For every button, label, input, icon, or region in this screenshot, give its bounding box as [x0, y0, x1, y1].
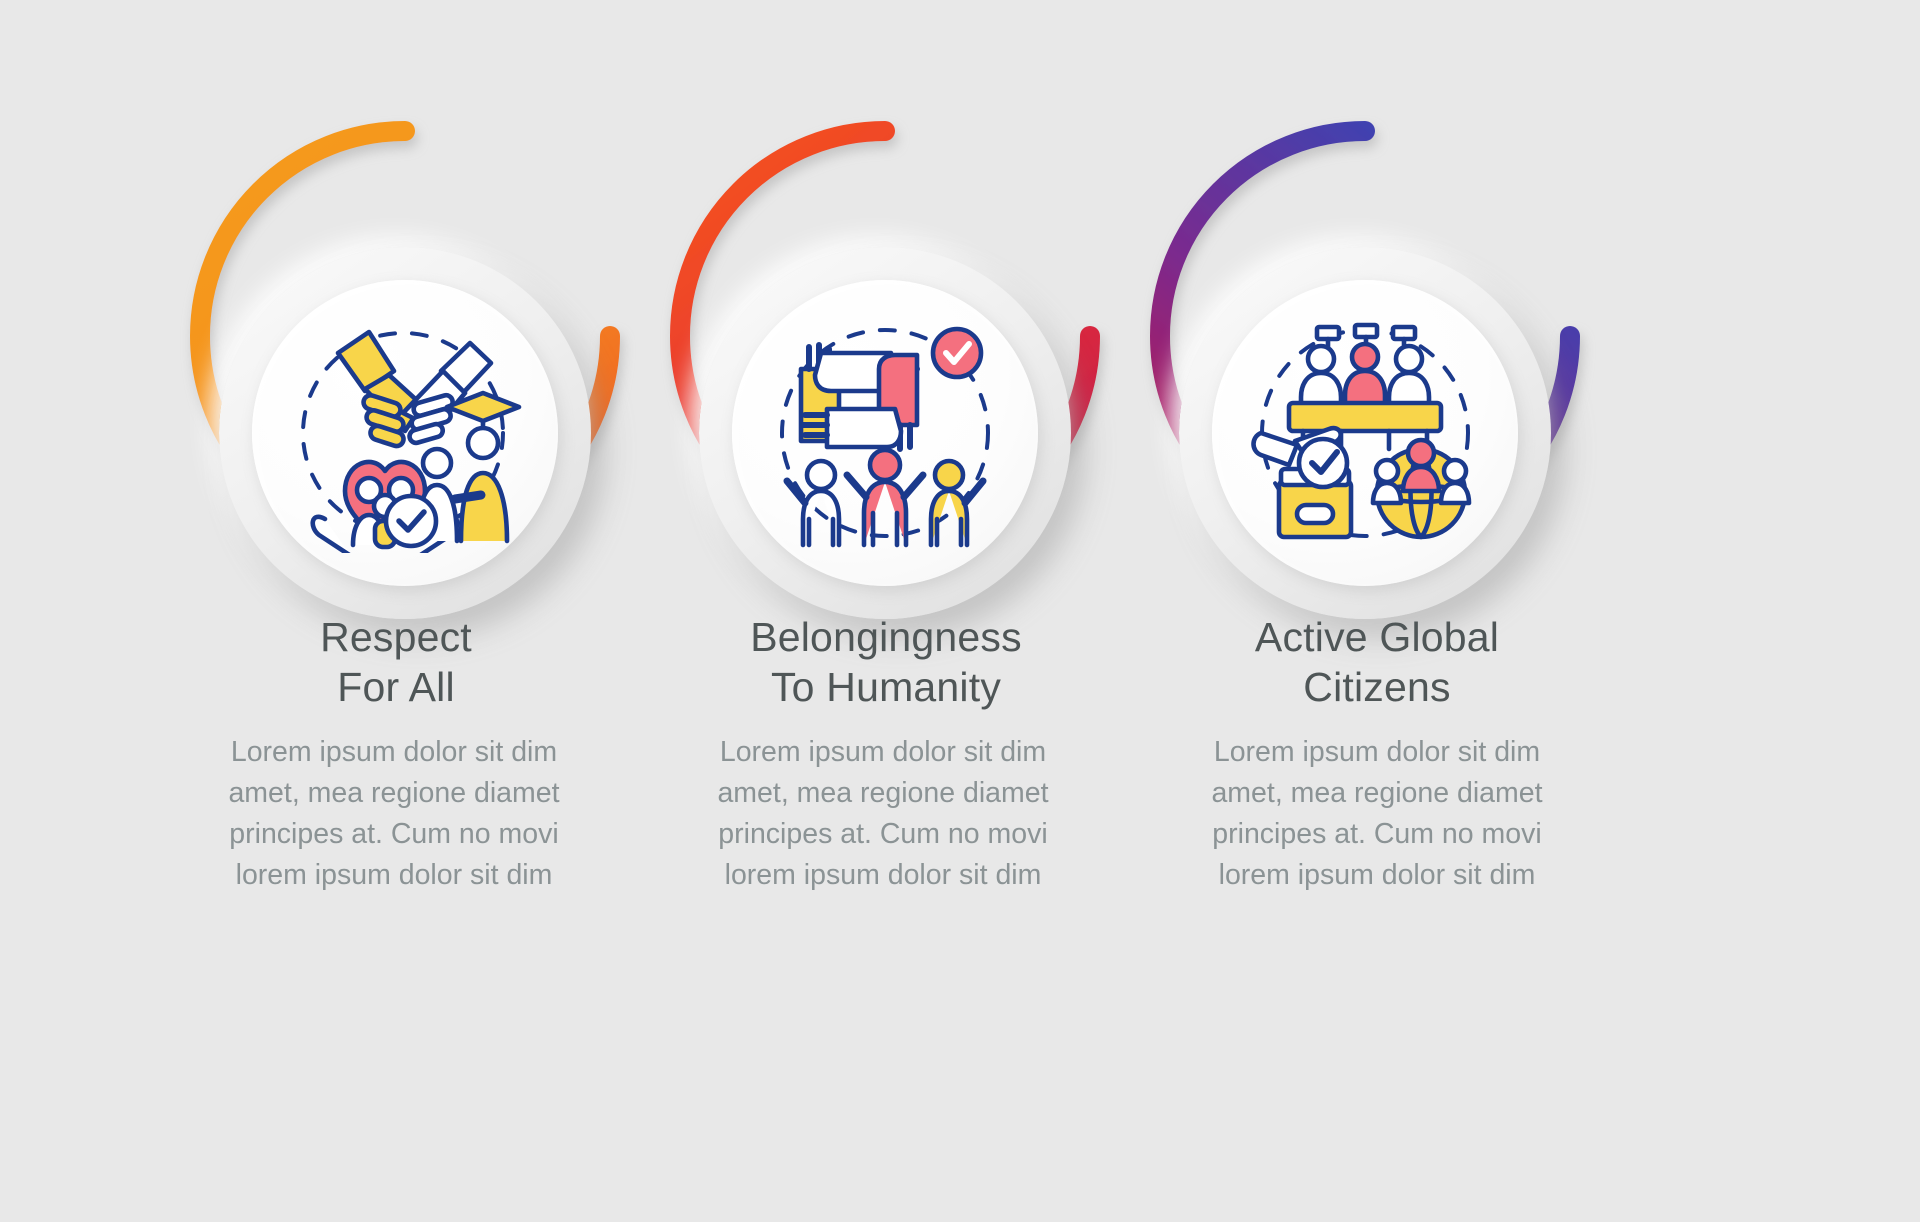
step-3-disc-inner — [1212, 280, 1518, 586]
step-1-description: Lorem ipsum dolor sit dim amet, mea regi… — [196, 732, 592, 896]
step-2-disc-inner — [732, 280, 1038, 586]
step-2-description: Lorem ipsum dolor sit dim amet, mea regi… — [685, 732, 1081, 896]
step-1-disc — [219, 247, 591, 619]
step-1-title: Respect For All — [166, 612, 626, 712]
step-3-disc — [1179, 247, 1551, 619]
step-2-disc — [699, 247, 1071, 619]
belongingness-to-humanity-icon — [765, 313, 1005, 553]
step-3-title: Active Global Citizens — [1147, 612, 1607, 712]
infographic-root: Respect For All Lorem ipsum dolor sit di… — [0, 0, 1920, 1222]
active-global-citizens-icon — [1245, 313, 1485, 553]
step-3-description: Lorem ipsum dolor sit dim amet, mea regi… — [1179, 732, 1575, 896]
respect-for-all-icon — [285, 313, 525, 553]
step-3-text: Active Global Citizens Lorem ipsum dolor… — [1055, 612, 1675, 896]
step-1-disc-inner — [252, 280, 558, 586]
step-2-title: Belongingness To Humanity — [656, 612, 1116, 712]
step-3: Active Global Citizens Lorem ipsum dolor… — [1055, 0, 1675, 1222]
step-3-ring — [1055, 95, 1675, 595]
